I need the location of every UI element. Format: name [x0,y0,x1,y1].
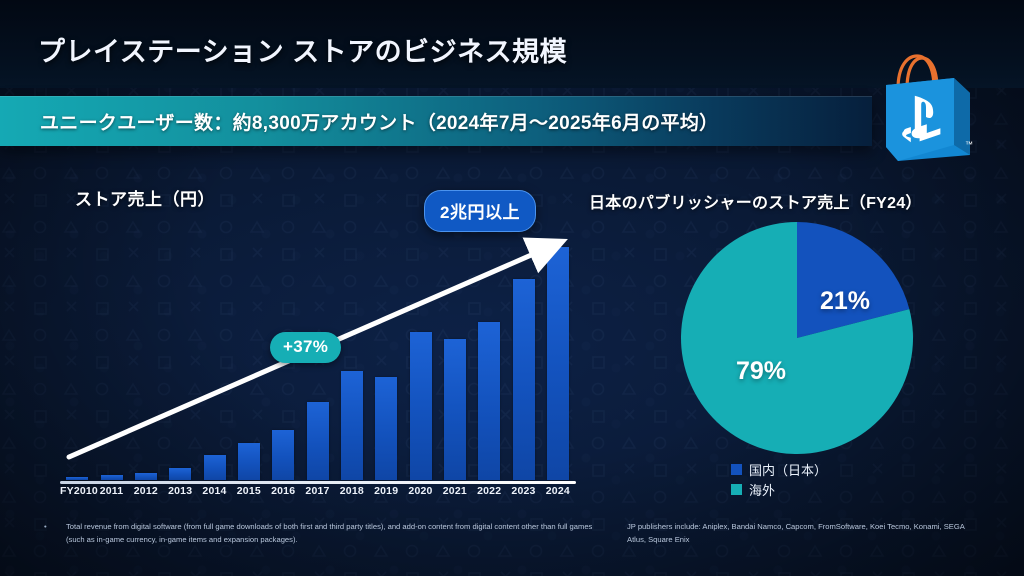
legend-item-0: 国内（日本） [731,459,827,479]
bar-2021 [444,339,466,480]
bar-2011 [101,475,123,480]
slide-root: プレイステーション ストアのビジネス規模 ユニークユーザー数：約8,300万アカ… [0,0,1024,576]
footnote-bullet: • [44,521,47,534]
bar-2012 [135,473,157,480]
playstation-store-bag-icon: ™ [862,45,984,163]
x-label-2022: 2022 [472,485,506,497]
bar-2016 [272,430,294,480]
pie-chart-legend: 国内（日本）海外 [731,459,827,499]
two-trillion-badge: 2兆円以上 [424,190,536,232]
legend-label: 国内（日本） [749,460,827,479]
bar-2013 [169,468,191,481]
pie-label-domestic: 21% [820,287,870,316]
bar-2022 [478,322,500,480]
x-label-FY2010: FY2010 [60,485,94,497]
x-label-2014: 2014 [197,485,231,497]
footnote-left: • Total revenue from digital software (f… [44,521,604,546]
trademark-mark: ™ [965,140,973,149]
bar-2018 [341,371,363,480]
bar-2015 [238,443,260,481]
bar-2014 [204,455,226,480]
footnote-right-text: JP publishers include: Aniplex, Bandai N… [627,522,964,544]
legend-swatch-icon [731,464,742,475]
bar-2019 [375,377,397,480]
pie-chart-title: 日本のパブリッシャーのストア売上（FY24） [589,189,922,213]
x-axis-labels: FY20102011201220132014201520162017201820… [45,485,590,505]
bar-2024 [547,247,569,480]
publisher-share-pie-chart [681,222,913,454]
bar-2020 [410,332,432,480]
x-label-2020: 2020 [403,485,437,497]
footnote-left-text: Total revenue from digital software (fro… [66,521,604,546]
legend-item-1: 海外 [731,479,827,499]
x-label-2015: 2015 [232,485,266,497]
x-label-2017: 2017 [300,485,334,497]
x-label-2012: 2012 [129,485,163,497]
bar-2023 [513,279,535,480]
legend-swatch-icon [731,484,742,495]
x-label-2013: 2013 [163,485,197,497]
page-title: プレイステーション ストアのビジネス規模 [38,30,567,69]
x-label-2018: 2018 [335,485,369,497]
x-label-2023: 2023 [506,485,540,497]
pie-label-overseas: 79% [736,357,786,386]
x-axis-line [60,481,576,484]
x-label-2024: 2024 [541,485,575,497]
banner-text: ユニークユーザー数：約8,300万アカウント（2024年7月〜2025年6月の平… [40,108,718,135]
x-label-2019: 2019 [369,485,403,497]
bar-chart-title: ストア売上（円） [75,185,215,210]
growth-percent-badge: +37% [270,332,341,363]
bar-2017 [307,402,329,480]
legend-label: 海外 [749,480,775,499]
footnote-right: JP publishers include: Aniplex, Bandai N… [627,521,982,546]
x-label-2016: 2016 [266,485,300,497]
bar-FY2010 [66,477,88,480]
x-label-2021: 2021 [438,485,472,497]
unique-users-banner: ユニークユーザー数：約8,300万アカウント（2024年7月〜2025年6月の平… [0,96,872,146]
x-label-2011: 2011 [94,485,128,497]
